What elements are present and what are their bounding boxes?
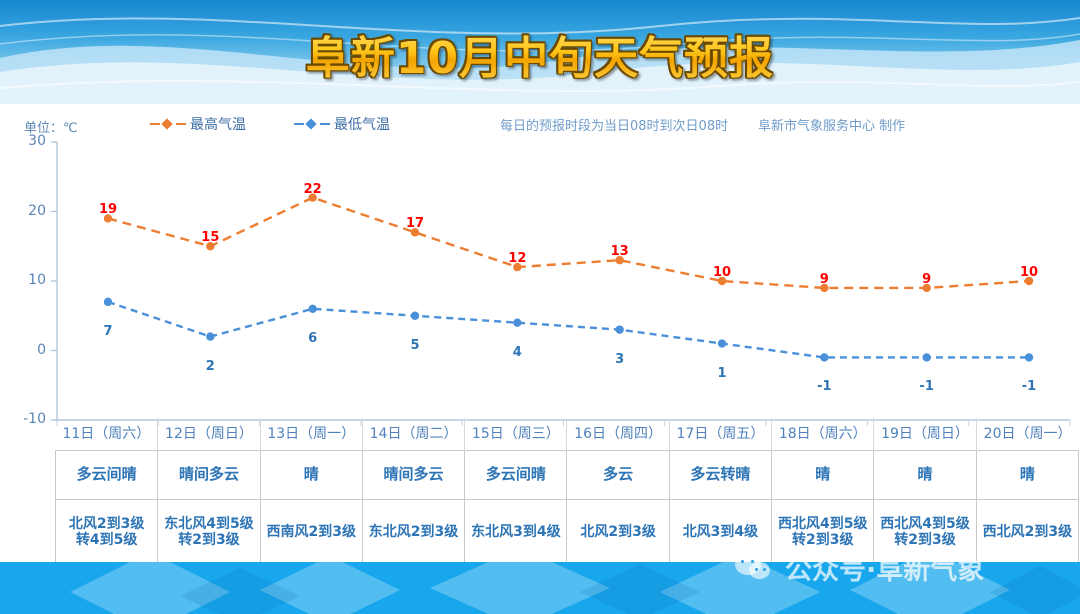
data-label-lo: 3	[615, 352, 624, 367]
footer-band	[0, 562, 1080, 614]
data-label-hi: 17	[406, 216, 424, 231]
data-label-hi: 10	[1020, 265, 1038, 280]
forecast-table-element: 11日（周六）12日（周日）13日（周一）14日（周二）15日（周三）16日（周…	[55, 418, 1079, 565]
table-cell-weather: 晴	[976, 451, 1078, 500]
chart-plot-area: 3020100-10 1915221712131099107265431-1-1…	[0, 104, 1080, 452]
data-label-lo: -1	[817, 379, 831, 394]
data-label-hi: 15	[201, 230, 219, 245]
data-label-lo: -1	[919, 379, 933, 394]
table-cell-date: 19日（周日）	[874, 418, 976, 451]
forecast-table: 11日（周六）12日（周日）13日（周一）14日（周二）15日（周三）16日（周…	[55, 418, 1079, 570]
table-cell-wind: 西南风2到3级	[260, 500, 362, 565]
data-label-hi: 12	[508, 251, 526, 266]
chart-svg	[0, 104, 1080, 452]
table-cell-date: 13日（周一）	[260, 418, 362, 451]
y-axis-tick-label: 20	[12, 203, 46, 219]
table-cell-weather: 多云间晴	[465, 451, 567, 500]
data-label-hi: 10	[713, 265, 731, 280]
header-banner: 阜新10月中旬天气预报	[0, 0, 1080, 104]
table-cell-weather: 多云间晴	[56, 451, 158, 500]
table-row-dates: 11日（周六）12日（周日）13日（周一）14日（周二）15日（周三）16日（周…	[56, 418, 1079, 451]
data-label-hi: 19	[99, 202, 117, 217]
table-cell-date: 20日（周一）	[976, 418, 1078, 451]
table-cell-date: 18日（周六）	[772, 418, 874, 451]
page-title: 阜新10月中旬天气预报	[0, 22, 1080, 86]
data-label-hi: 22	[304, 182, 322, 197]
table-cell-weather: 晴	[260, 451, 362, 500]
table-cell-date: 15日（周三）	[465, 418, 567, 451]
table-cell-weather: 晴间多云	[362, 451, 464, 500]
table-cell-date: 14日（周二）	[362, 418, 464, 451]
table-cell-wind: 西北风4到5级转2到3级	[772, 500, 874, 565]
table-cell-date: 11日（周六）	[56, 418, 158, 451]
table-cell-wind: 东北风3到4级	[465, 500, 567, 565]
data-label-hi: 13	[611, 244, 629, 259]
table-cell-weather: 晴	[772, 451, 874, 500]
data-label-hi: 9	[820, 272, 829, 287]
table-cell-wind: 东北风4到5级转2到3级	[158, 500, 260, 565]
table-cell-wind: 北风2到3级	[567, 500, 669, 565]
table-cell-weather: 多云	[567, 451, 669, 500]
table-cell-date: 12日（周日）	[158, 418, 260, 451]
table-cell-weather: 多云转晴	[669, 451, 771, 500]
table-cell-wind: 西北风2到3级	[976, 500, 1078, 565]
data-label-lo: 2	[206, 359, 215, 374]
y-axis-tick-label: 0	[12, 342, 46, 358]
table-cell-wind: 东北风2到3级	[362, 500, 464, 565]
y-axis-tick-label: 30	[12, 133, 46, 149]
data-label-lo: -1	[1022, 379, 1036, 394]
table-cell-wind: 北风3到4级	[669, 500, 771, 565]
data-label-lo: 1	[717, 366, 726, 381]
data-label-lo: 5	[410, 338, 419, 353]
data-label-hi: 9	[922, 272, 931, 287]
data-label-lo: 4	[513, 345, 522, 360]
footer-decoration	[0, 562, 1080, 614]
temperature-chart: 单位：℃ 最高气温 最低气温 每日的预报时段为当日08时到次日08时 阜新市气象…	[0, 104, 1080, 452]
table-cell-weather: 晴间多云	[158, 451, 260, 500]
table-row-wind: 北风2到3级转4到5级东北风4到5级转2到3级西南风2到3级东北风2到3级东北风…	[56, 500, 1079, 565]
table-cell-date: 16日（周四）	[567, 418, 669, 451]
data-label-lo: 6	[308, 331, 317, 346]
table-cell-wind: 西北风4到5级转2到3级	[874, 500, 976, 565]
table-cell-wind: 北风2到3级转4到5级	[56, 500, 158, 565]
data-label-lo: 7	[103, 324, 112, 339]
y-axis-tick-label: -10	[12, 411, 46, 427]
table-cell-weather: 晴	[874, 451, 976, 500]
table-cell-date: 17日（周五）	[669, 418, 771, 451]
y-axis-tick-label: 10	[12, 272, 46, 288]
table-row-weather: 多云间晴晴间多云晴晴间多云多云间晴多云多云转晴晴晴晴	[56, 451, 1079, 500]
